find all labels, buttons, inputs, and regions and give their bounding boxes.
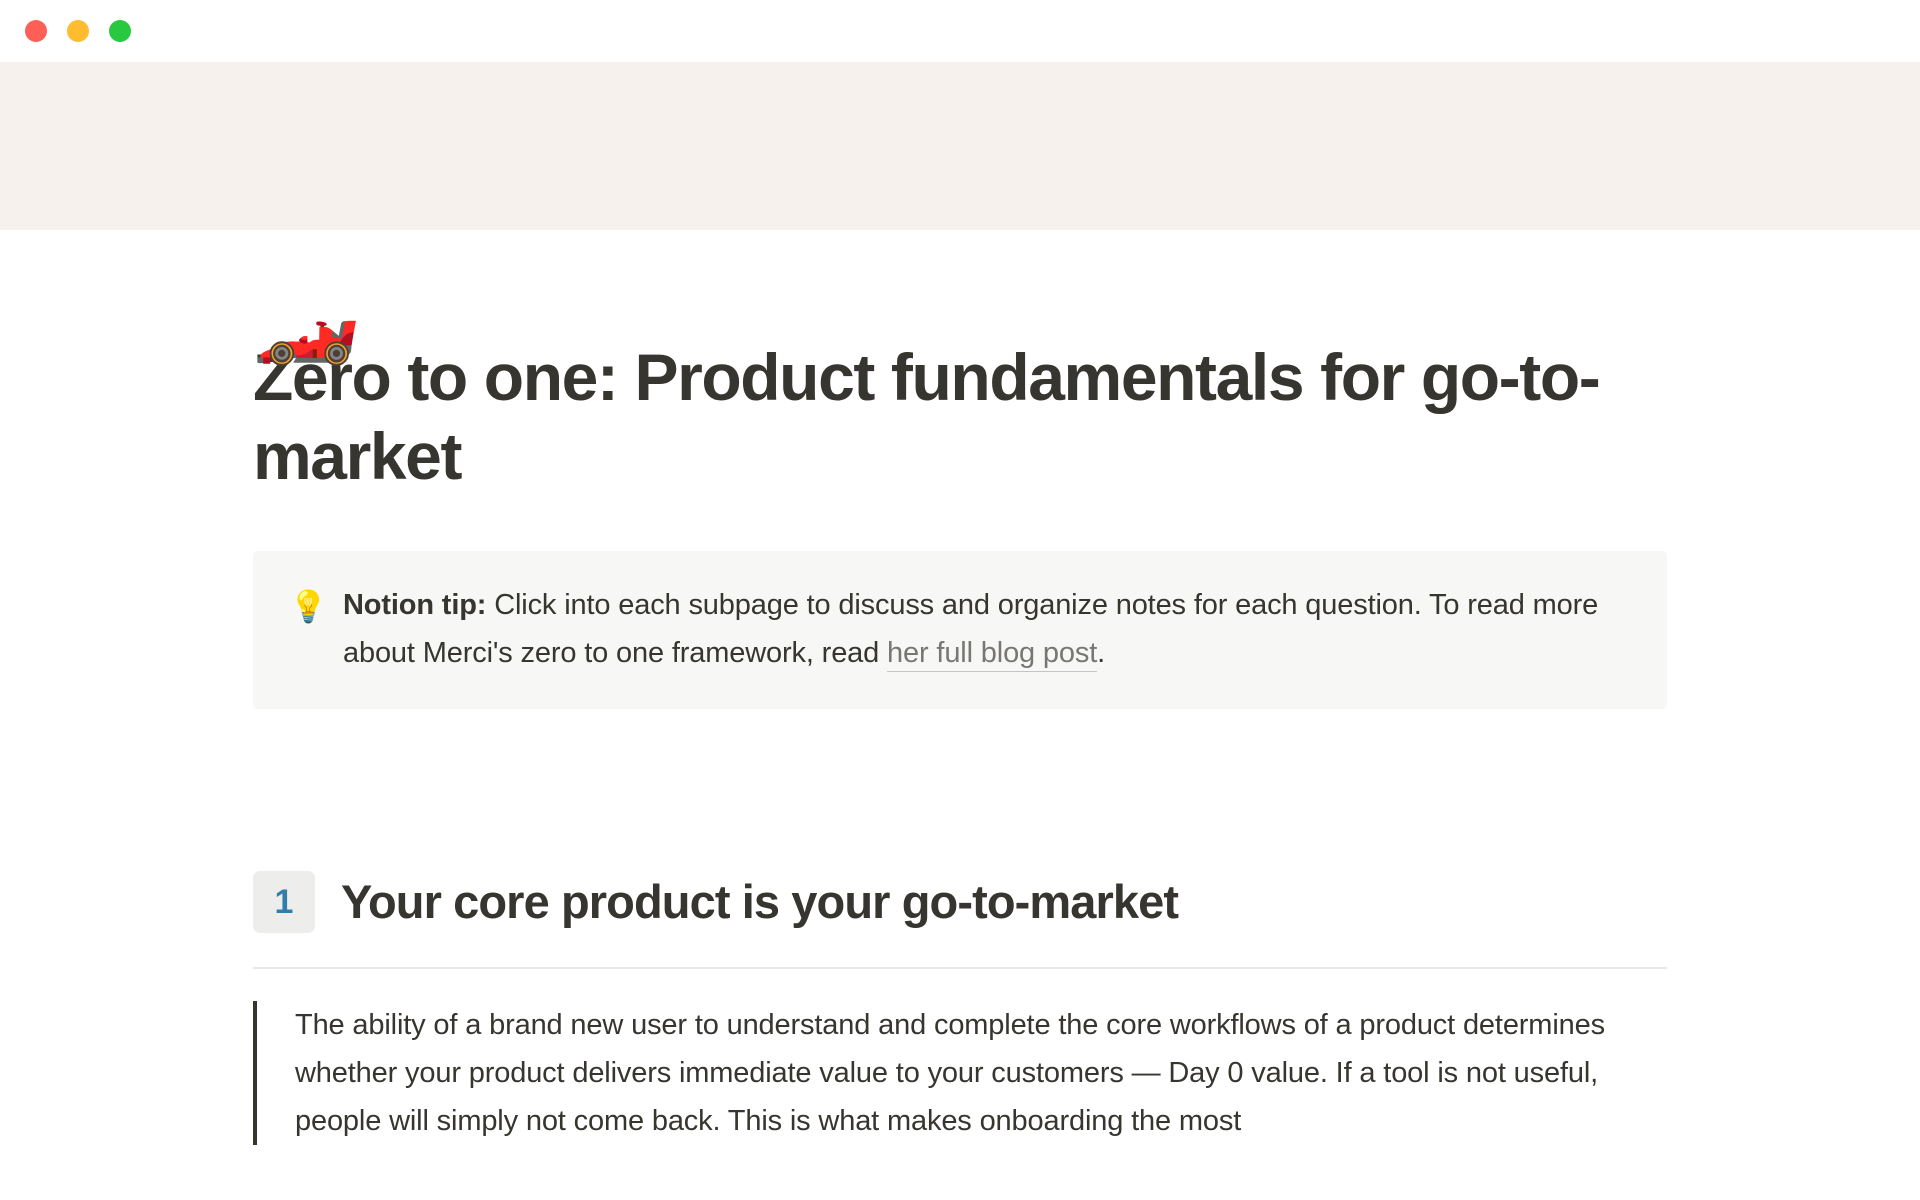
blog-post-link[interactable]: her full blog post xyxy=(887,637,1097,672)
section-number-badge: 1 xyxy=(253,871,315,933)
section-divider xyxy=(253,967,1667,969)
quote-block[interactable]: The ability of a brand new user to under… xyxy=(253,1001,1667,1145)
page-content-column: 🏎️ Zero to one: Product fundamentals for… xyxy=(253,338,1667,1145)
page-cover-banner[interactable] xyxy=(0,62,1920,230)
racing-car-emoji[interactable]: 🏎️ xyxy=(253,276,360,362)
light-bulb-emoji: 💡 xyxy=(289,581,343,631)
callout-block[interactable]: 💡 Notion tip: Click into each subpage to… xyxy=(253,551,1667,709)
callout-body-text-after-link: . xyxy=(1097,637,1105,669)
close-window-button[interactable] xyxy=(25,20,47,42)
window-title-bar xyxy=(0,0,1920,62)
quote-accent-bar xyxy=(253,1001,257,1145)
section-title[interactable]: Your core product is your go-to-market xyxy=(341,874,1178,930)
callout-bold-label: Notion tip: xyxy=(343,589,486,621)
minimize-window-button[interactable] xyxy=(67,20,89,42)
page-title[interactable]: Zero to one: Product fundamentals for go… xyxy=(253,338,1643,495)
zoom-window-button[interactable] xyxy=(109,20,131,42)
traffic-light-controls xyxy=(25,20,131,42)
section-heading-1[interactable]: 1 Your core product is your go-to-market xyxy=(253,871,1667,933)
callout-text: Notion tip: Click into each subpage to d… xyxy=(343,581,1631,677)
quote-text: The ability of a brand new user to under… xyxy=(295,1001,1667,1145)
page-body: 🏎️ Zero to one: Product fundamentals for… xyxy=(0,230,1920,1200)
